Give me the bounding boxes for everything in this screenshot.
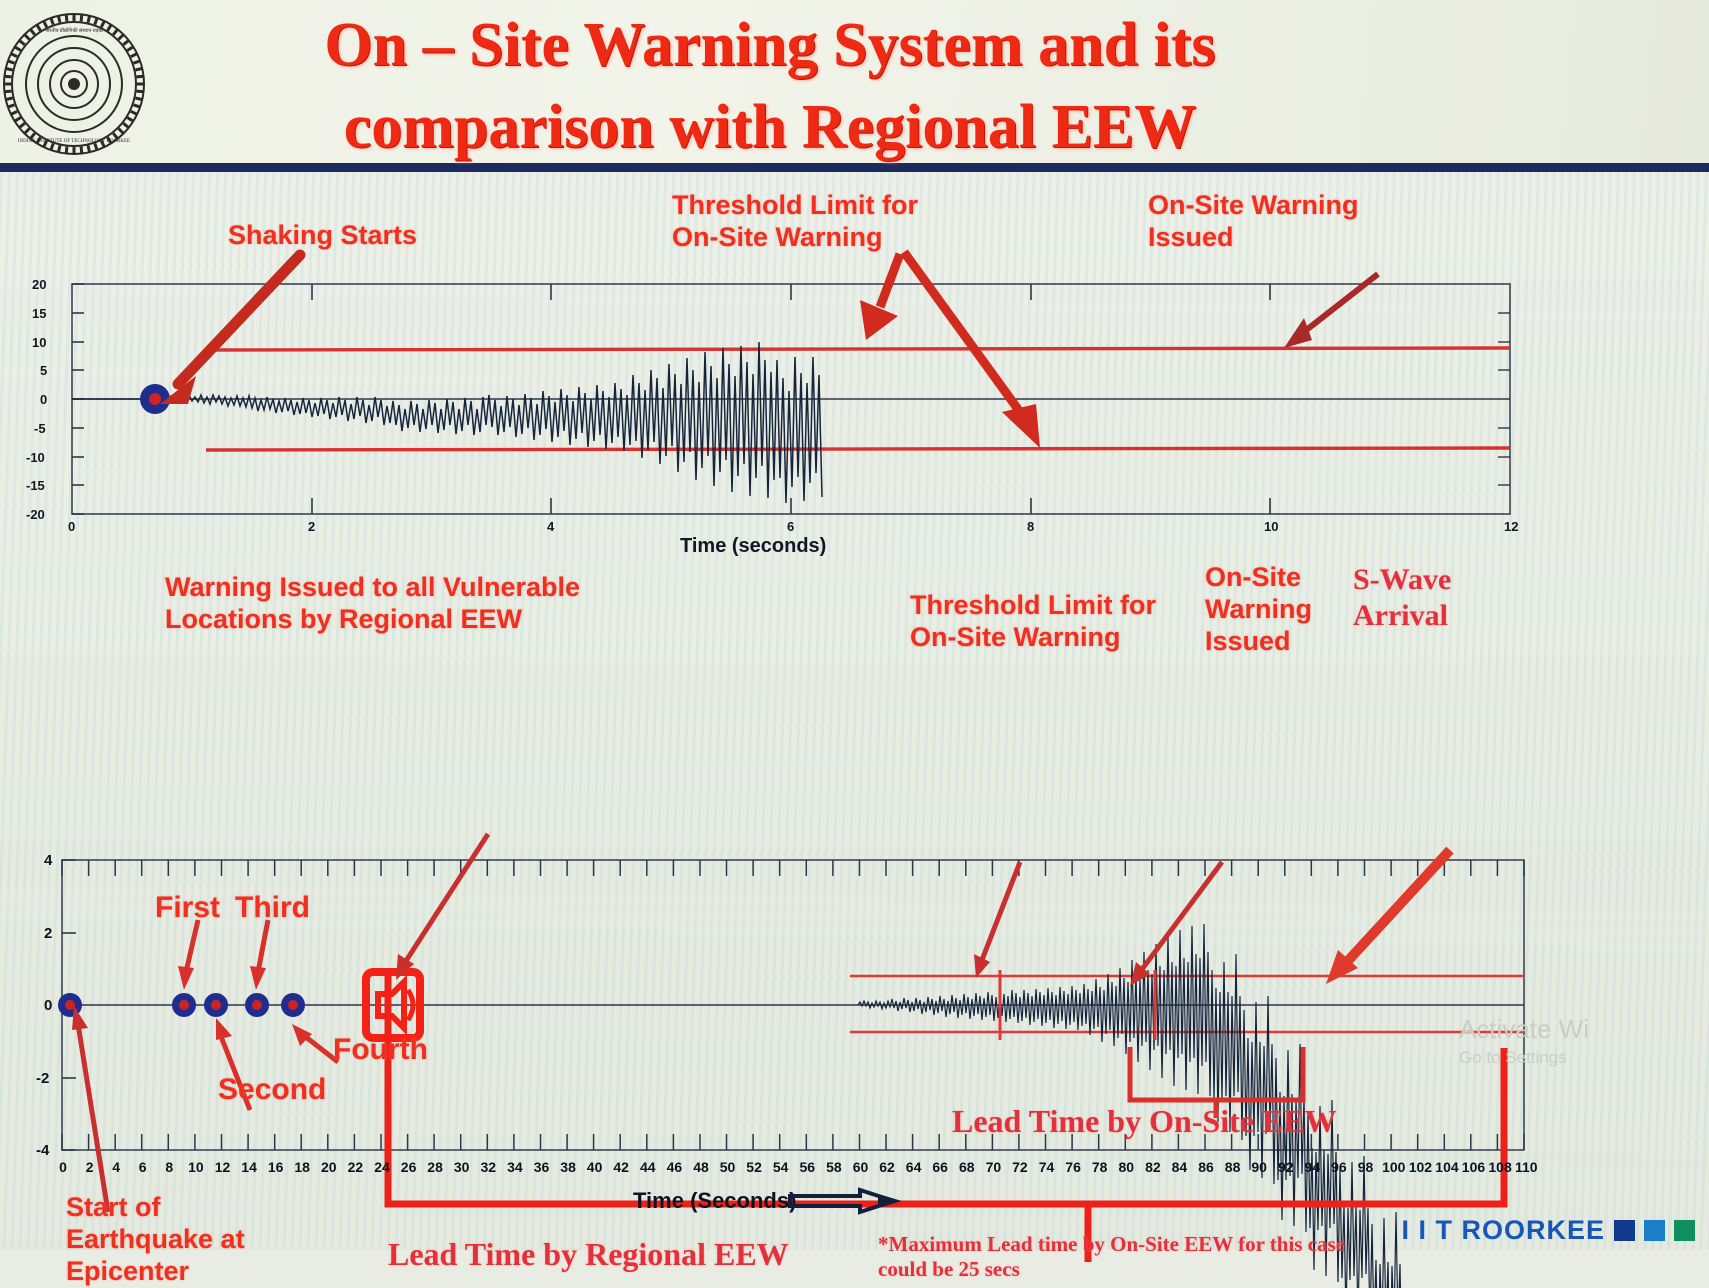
logo-square-blue: [1644, 1220, 1665, 1241]
bottom-xtick-108: 108: [1488, 1159, 1508, 1175]
bottom-xtick-110: 110: [1515, 1159, 1535, 1175]
top-ytick-5: 5: [40, 363, 47, 378]
bottom-xtick-34: 34: [505, 1159, 525, 1175]
bottom-xtick-38: 38: [558, 1159, 578, 1175]
bottom-xtick-88: 88: [1223, 1159, 1243, 1175]
bottom-xtick-98: 98: [1356, 1159, 1376, 1175]
bottom-xtick-42: 42: [611, 1159, 631, 1175]
bottom-xtick-104: 104: [1435, 1159, 1455, 1175]
bottom-xtick-62: 62: [877, 1159, 897, 1175]
bottom-xtick-82: 82: [1143, 1159, 1163, 1175]
svg-text:INDIAN INSTITUTE OF TECHNOLOGY: INDIAN INSTITUTE OF TECHNOLOGY ROORKEE: [18, 139, 130, 144]
arrow-shaking-starts: [160, 255, 300, 404]
label-lead-time-regional: Lead Time by Regional EEW: [388, 1235, 789, 1273]
top-ytick-m10: -10: [26, 450, 45, 465]
bottom-ytick-m2: -2: [36, 1070, 49, 1087]
iit-roorkee-footer-logo: I I T ROORKEE: [1401, 1215, 1695, 1246]
top-ytick-20: 20: [32, 277, 46, 292]
bottom-xtick-44: 44: [638, 1159, 658, 1175]
bottom-ytick-2: 2: [44, 925, 52, 942]
bottom-xtick-48: 48: [691, 1159, 711, 1175]
top-xtick-2: 2: [308, 519, 315, 534]
bottom-xtick-14: 14: [239, 1159, 259, 1175]
windows-activation-watermark: Activate Wi Go to Settings: [1459, 1012, 1589, 1070]
top-threshold-lower: [206, 448, 1510, 450]
top-xtick-6: 6: [787, 519, 794, 534]
bottom-xtick-18: 18: [292, 1159, 312, 1175]
bottom-xtick-56: 56: [797, 1159, 817, 1175]
bottom-xtick-54: 54: [771, 1159, 791, 1175]
bottom-xtick-78: 78: [1090, 1159, 1110, 1175]
bottom-xtick-4: 4: [106, 1159, 126, 1175]
bottom-ytick-m4: -4: [36, 1142, 49, 1159]
bottom-xtick-80: 80: [1116, 1159, 1136, 1175]
iit-footer-text: I I T ROORKEE: [1401, 1215, 1605, 1246]
arrow-third: [250, 920, 268, 990]
bottom-xtick-100: 100: [1382, 1159, 1402, 1175]
footnote-max-lead-time: *Maximum Lead time by On-Site EEW for th…: [878, 1232, 1345, 1282]
bottom-xtick-74: 74: [1037, 1159, 1057, 1175]
top-chart-plot: [0, 172, 1709, 572]
top-ytick-m15: -15: [26, 478, 45, 493]
bottom-xtick-22: 22: [345, 1159, 365, 1175]
bottom-xtick-94: 94: [1302, 1159, 1322, 1175]
bottom-xtick-68: 68: [957, 1159, 977, 1175]
bottom-xtick-92: 92: [1276, 1159, 1296, 1175]
top-xtick-8: 8: [1027, 519, 1034, 534]
bottom-xtick-64: 64: [904, 1159, 924, 1175]
top-ytick-m5: -5: [34, 421, 46, 436]
arrow-threshold-bottom: [974, 862, 1020, 978]
page-title: On – Site Warning System and its compari…: [140, 4, 1400, 168]
arrow-regional-warning: [396, 834, 488, 980]
arrow-s-wave-arrival: [1326, 850, 1450, 984]
bottom-xtick-36: 36: [532, 1159, 552, 1175]
iit-roorkee-emblem-icon: भारतीय प्रौद्योगिकी संस्थान रुड़की INDIA…: [0, 10, 148, 158]
bottom-xtick-16: 16: [266, 1159, 286, 1175]
bottom-xtick-96: 96: [1329, 1159, 1349, 1175]
bottom-xtick-66: 66: [930, 1159, 950, 1175]
bottom-xtick-90: 90: [1249, 1159, 1269, 1175]
logo-square-green: [1674, 1220, 1695, 1241]
bottom-xtick-58: 58: [824, 1159, 844, 1175]
bottom-xtick-12: 12: [213, 1159, 233, 1175]
label-fourth: Fourth: [333, 1032, 428, 1067]
label-second: Second: [218, 1072, 326, 1107]
bottom-x-tick-labels: 0246810121416182022242628303234363840424…: [0, 1159, 1709, 1183]
bottom-xtick-30: 30: [452, 1159, 472, 1175]
bottom-xtick-2: 2: [80, 1159, 100, 1175]
top-ytick-0: 0: [40, 392, 47, 407]
bottom-xtick-50: 50: [718, 1159, 738, 1175]
top-ytick-m20: -20: [26, 507, 45, 522]
top-xtick-0: 0: [68, 519, 75, 534]
bottom-xtick-60: 60: [851, 1159, 871, 1175]
top-ytick-15: 15: [32, 306, 46, 321]
bottom-xtick-0: 0: [53, 1159, 73, 1175]
top-xtick-10: 10: [1264, 519, 1278, 534]
top-chart-xlabel: Time (seconds): [680, 535, 826, 558]
bottom-xtick-84: 84: [1169, 1159, 1189, 1175]
bottom-xtick-72: 72: [1010, 1159, 1030, 1175]
arrow-first: [178, 920, 198, 990]
bottom-xtick-106: 106: [1462, 1159, 1482, 1175]
svg-text:भारतीय प्रौद्योगिकी संस्थान रु: भारतीय प्रौद्योगिकी संस्थान रुड़की: [45, 27, 104, 34]
slide-title-band: On – Site Warning System and its compari…: [0, 0, 1709, 172]
top-threshold-upper: [206, 348, 1510, 350]
page-title-line1: On – Site Warning System and its: [140, 4, 1400, 86]
time-direction-arrow-icon: [790, 1188, 920, 1218]
bottom-xtick-26: 26: [399, 1159, 419, 1175]
top-waveform: [72, 342, 822, 503]
bottom-xtick-46: 46: [664, 1159, 684, 1175]
top-ytick-10: 10: [32, 335, 46, 350]
label-start-of-earthquake: Start of Earthquake at Epicenter: [66, 1192, 245, 1288]
top-xtick-4: 4: [547, 519, 554, 534]
arrow-fourth: [292, 1024, 338, 1062]
bottom-xtick-20: 20: [319, 1159, 339, 1175]
page-title-line2: comparison with Regional EEW: [140, 86, 1400, 168]
bottom-xtick-86: 86: [1196, 1159, 1216, 1175]
bottom-ytick-4: 4: [44, 852, 52, 869]
label-first: First: [155, 890, 220, 925]
bottom-xtick-102: 102: [1409, 1159, 1429, 1175]
label-third: Third: [235, 890, 310, 925]
top-xtick-12: 12: [1504, 519, 1518, 534]
bottom-xtick-70: 70: [983, 1159, 1003, 1175]
bottom-xtick-28: 28: [425, 1159, 445, 1175]
arrow-onsite-warning: [1284, 274, 1378, 348]
bottom-xtick-52: 52: [744, 1159, 764, 1175]
bottom-xtick-6: 6: [133, 1159, 153, 1175]
bottom-comparison-chart: Warning Issued to all Vulnerable Locatio…: [0, 572, 1709, 1250]
bottom-xtick-24: 24: [372, 1159, 392, 1175]
bottom-xtick-40: 40: [585, 1159, 605, 1175]
logo-square-dark: [1614, 1220, 1635, 1241]
bottom-ytick-0: 0: [44, 997, 52, 1014]
slide-body: Shaking Starts Threshold Limit for On-Si…: [0, 172, 1709, 1250]
bottom-xtick-76: 76: [1063, 1159, 1083, 1175]
label-lead-time-onsite: Lead Time by On-Site EEW: [952, 1102, 1337, 1140]
bottom-xtick-10: 10: [186, 1159, 206, 1175]
bottom-xtick-8: 8: [159, 1159, 179, 1175]
bottom-chart-xlabel: Time (Seconds): [633, 1188, 796, 1214]
bottom-xtick-32: 32: [478, 1159, 498, 1175]
shaking-start-marker: [140, 384, 170, 414]
top-accelerogram-chart: Shaking Starts Threshold Limit for On-Si…: [0, 172, 1709, 572]
